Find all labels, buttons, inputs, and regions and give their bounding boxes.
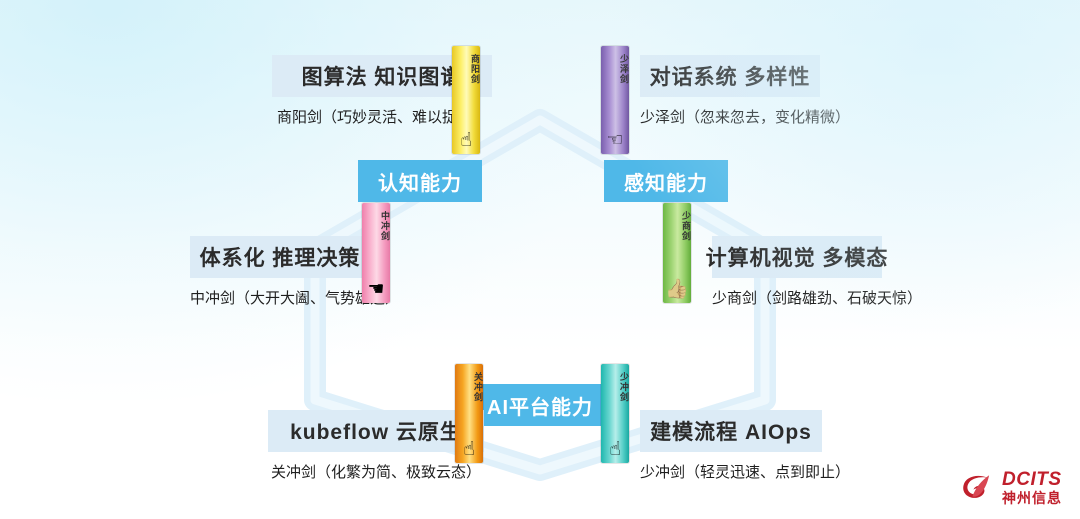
capability-cognitive[interactable]: 认知能力 [358,160,482,202]
sword-label: 中冲剑 [362,211,390,241]
logo-chinese: 神州信息 [1002,491,1062,505]
node-title: kubeflow 云原生 [268,410,484,452]
swoosh-emblem-icon [961,473,995,503]
node-subtitle: 中冲剑（大开大阖、气势雄迈） [190,287,370,308]
sword-label: 少泽剑 [601,54,629,84]
sword-label: 关冲剑 [455,372,483,402]
sword-bar-orange: 关冲剑 ☝ [455,364,483,463]
capability-perceptual[interactable]: 感知能力 [604,160,728,202]
sword-label: 少冲剑 [601,372,629,402]
sword-bar-yellow: 商阳剑 ☝ [452,46,480,154]
node-title: 计算机视觉 多模态 [712,236,882,278]
index-finger-icon: ☝ [601,439,629,461]
node-subtitle: 少泽剑（忽来忽去，变化精微） [640,106,820,127]
slide-canvas: 图算法 知识图谱 商阳剑（巧妙灵活、难以捉摸） 商阳剑 ☝ 对话系统 多样性 少… [0,0,1080,519]
node-dialogue-system[interactable]: 对话系统 多样性 少泽剑（忽来忽去，变化精微） [640,55,820,127]
thumbs-up-icon: 👍 [663,279,691,301]
sword-label: 商阳剑 [452,54,480,84]
logo-english: DCITS [1002,470,1062,489]
node-computer-vision[interactable]: 计算机视觉 多模态 少商剑（剑路雄劲、石破天惊） [712,236,882,308]
sword-bar-green: 少商剑 👍 [663,203,691,303]
company-logo: DCITS 神州信息 [961,470,1062,505]
node-reasoning-decision[interactable]: 体系化 推理决策 中冲剑（大开大阖、气势雄迈） [190,236,370,308]
node-title: 体系化 推理决策 [190,236,370,278]
sword-label: 少商剑 [663,211,691,241]
capability-ai-platform[interactable]: AI平台能力 [478,384,602,426]
node-subtitle: 少商剑（剑路雄劲、石破天惊） [712,287,882,308]
sword-bar-teal: 少冲剑 ☝ [601,364,629,463]
sword-bar-purple: 少泽剑 ☜ [601,46,629,154]
ring-finger-icon: ☝ [455,439,483,461]
node-cloud-native[interactable]: kubeflow 云原生 关冲剑（化繁为简、极致云态） [268,410,484,482]
node-title: 对话系统 多样性 [640,55,820,97]
sword-bar-pink: 中冲剑 ☚ [362,203,390,303]
middle-finger-icon: ☚ [362,279,390,301]
node-aiops[interactable]: 建模流程 AIOps 少冲剑（轻灵迅速、点到即止） [640,410,822,482]
pinky-finger-icon: ☜ [601,130,629,152]
node-title: 建模流程 AIOps [640,410,822,452]
node-subtitle: 关冲剑（化繁为简、极致云态） [268,461,484,482]
index-finger-up-icon: ☝ [452,130,480,152]
hexagon-connector [0,0,1080,519]
node-subtitle: 少冲剑（轻灵迅速、点到即止） [640,461,822,482]
